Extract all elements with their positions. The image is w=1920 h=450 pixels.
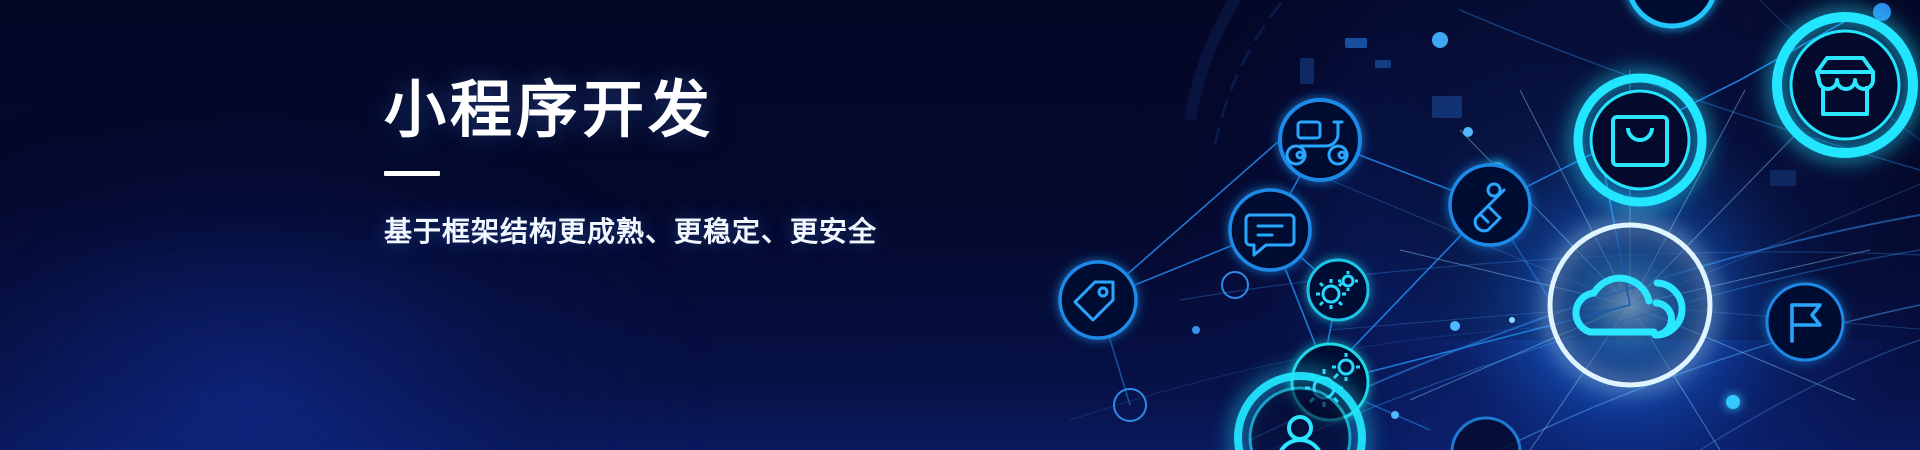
title-divider xyxy=(384,171,440,176)
page-title: 小程序开发 xyxy=(384,78,877,145)
banner-copy: 小程序开发 基于框架结构更成熟、更稳定、更安全 xyxy=(384,78,877,250)
page-subtitle: 基于框架结构更成熟、更稳定、更安全 xyxy=(384,210,877,250)
background-topright-shade xyxy=(1360,0,1920,340)
hero-banner: 小程序开发 基于框架结构更成熟、更稳定、更安全 xyxy=(0,0,1920,450)
